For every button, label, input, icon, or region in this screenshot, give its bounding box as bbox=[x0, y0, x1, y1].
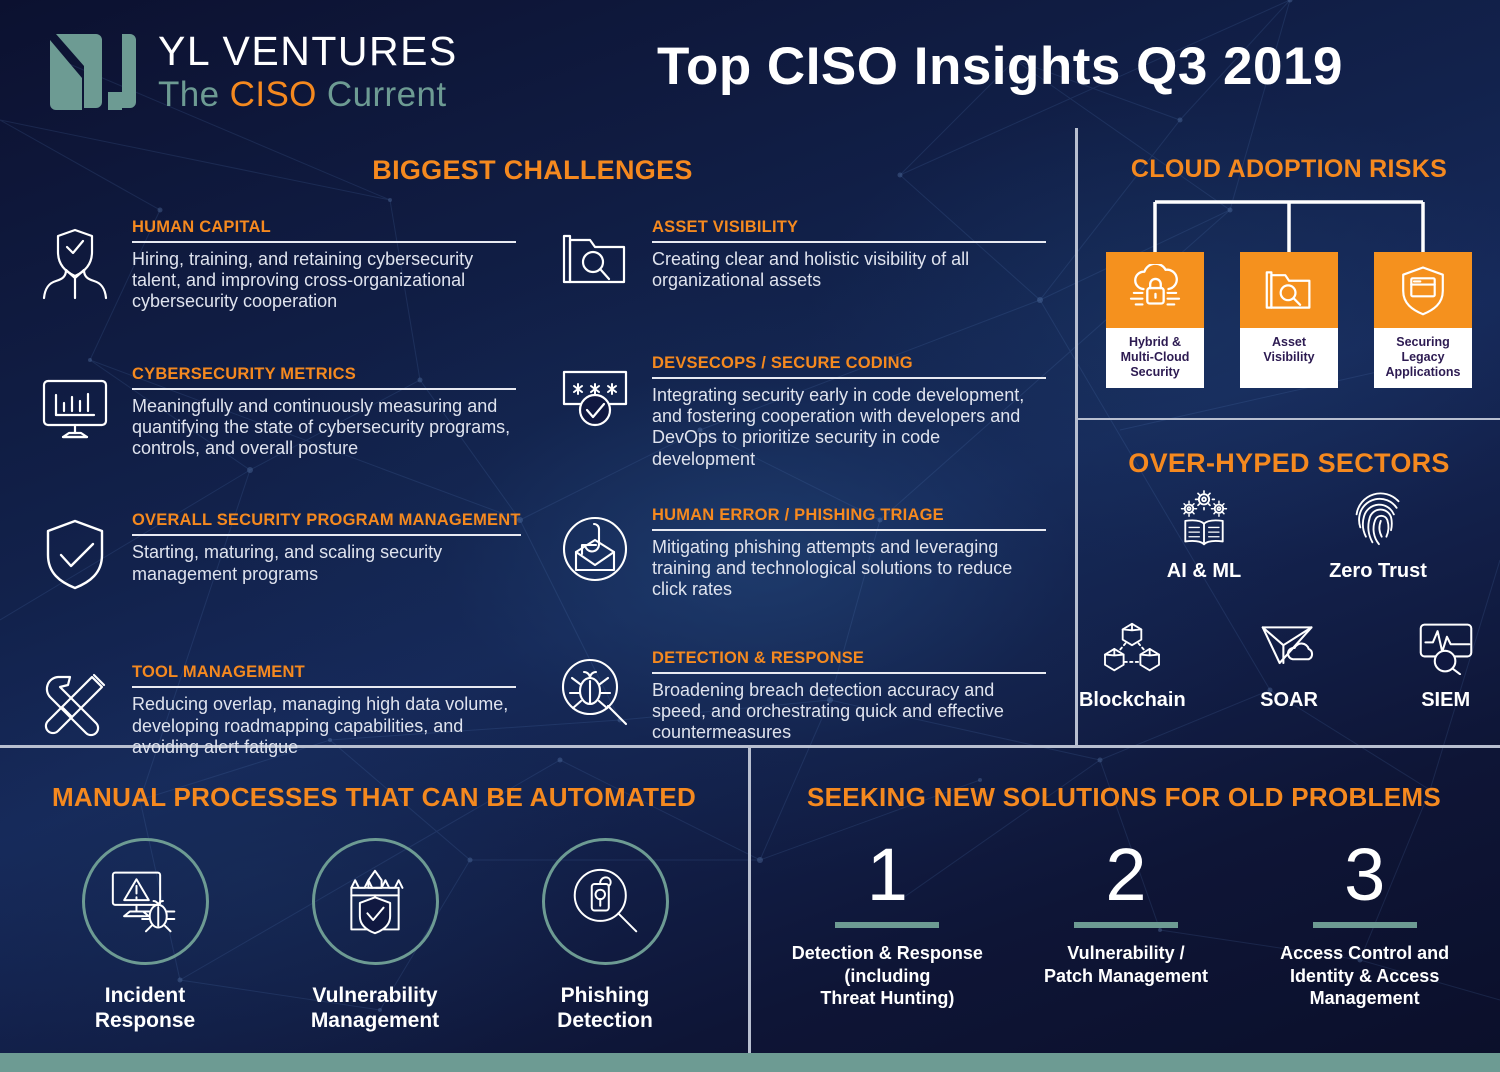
challenge-heading: TOOL MANAGEMENT bbox=[132, 663, 516, 682]
vertical-divider-bottom bbox=[748, 748, 751, 1053]
challenge-description: Reducing overlap, managing high data vol… bbox=[132, 694, 516, 758]
challenge-heading: ASSET VISIBILITY bbox=[652, 218, 1046, 237]
logo-tagline-suffix: Current bbox=[317, 75, 447, 114]
hyped-row-1: AI & ML Zero Trust bbox=[1078, 488, 1500, 583]
challenge-description: Starting, maturing, and scaling security… bbox=[132, 542, 521, 584]
challenge-body: CYBERSECURITY METRICS Meaningfully and c… bbox=[132, 365, 516, 460]
folder-search-icon bbox=[556, 218, 634, 296]
yl-ventures-logo-mark bbox=[46, 26, 142, 116]
section-title-manual-processes: MANUAL PROCESSES THAT CAN BE AUTOMATED bbox=[12, 782, 736, 813]
cloud-risk-cards: Hybrid &Multi-CloudSecurity AssetVisibil… bbox=[1078, 252, 1500, 388]
seeking-solutions-group: 1 Detection & Response(includingThreat H… bbox=[768, 840, 1484, 1010]
challenges-column-left: HUMAN CAPITAL Hiring, training, and reta… bbox=[36, 218, 516, 758]
challenge-rule bbox=[652, 377, 1046, 379]
challenge-body: HUMAN CAPITAL Hiring, training, and reta… bbox=[132, 218, 516, 313]
logo-company-name: YL VENTURES bbox=[158, 31, 458, 72]
cloud-adoption-risks-group: Hybrid &Multi-CloudSecurity AssetVisibil… bbox=[1078, 190, 1500, 400]
manual-process-label: PhishingDetection bbox=[557, 983, 653, 1033]
seeking-solution-item[interactable]: 1 Detection & Response(includingThreat H… bbox=[780, 840, 995, 1010]
challenge-description: Mitigating phishing attempts and leverag… bbox=[652, 537, 1046, 601]
manual-process-circle bbox=[82, 838, 209, 965]
footer-accent-bar bbox=[0, 1053, 1500, 1072]
fingerprint-icon bbox=[1351, 488, 1405, 550]
section-title-cloud-adoption-risks: CLOUD ADOPTION RISKS bbox=[1078, 155, 1500, 184]
seeking-solution-rule bbox=[1313, 922, 1417, 928]
cloud-risk-card[interactable]: Hybrid &Multi-CloudSecurity bbox=[1106, 252, 1204, 388]
cloud-risk-card[interactable]: AssetVisibility bbox=[1240, 252, 1338, 388]
section-title-over-hyped-sectors: OVER-HYPED SECTORS bbox=[1078, 448, 1500, 479]
hyped-sector-item[interactable]: Zero Trust bbox=[1319, 488, 1437, 583]
hyped-sector-label: Blockchain bbox=[1079, 689, 1186, 712]
cloud-risk-card[interactable]: SecuringLegacyApplications bbox=[1374, 252, 1472, 388]
cloud-risk-label: AssetVisibility bbox=[1240, 328, 1338, 374]
challenge-item: CYBERSECURITY METRICS Meaningfully and c… bbox=[36, 365, 516, 460]
challenge-body: DETECTION & RESPONSE Broadening breach d… bbox=[652, 649, 1046, 744]
challenge-heading: OVERALL SECURITY PROGRAM MANAGEMENT bbox=[132, 511, 521, 530]
hyped-sector-label: Zero Trust bbox=[1329, 560, 1427, 583]
challenge-body: HUMAN ERROR / PHISHING TRIAGE Mitigating… bbox=[652, 506, 1046, 601]
challenge-heading: HUMAN ERROR / PHISHING TRIAGE bbox=[652, 506, 1046, 525]
manual-process-circle bbox=[312, 838, 439, 965]
challenge-heading: DETECTION & RESPONSE bbox=[652, 649, 1046, 668]
hyped-sector-item[interactable]: SIEM bbox=[1391, 617, 1500, 712]
folder-search-icon bbox=[1240, 252, 1338, 328]
challenge-item: DEVSECOPS / SECURE CODING Integrating se… bbox=[556, 354, 1046, 470]
logo-tagline-prefix: The bbox=[158, 75, 230, 114]
challenge-rule bbox=[652, 672, 1046, 674]
challenge-description: Meaningfully and continuously measuring … bbox=[132, 396, 516, 460]
monitor-pulse-search-icon bbox=[1417, 617, 1475, 679]
seeking-solution-rule bbox=[1074, 922, 1178, 928]
hyped-sector-label: SIEM bbox=[1421, 689, 1470, 712]
challenge-rule bbox=[132, 534, 521, 536]
challenge-heading: CYBERSECURITY METRICS bbox=[132, 365, 516, 384]
seeking-solution-rule bbox=[835, 922, 939, 928]
challenge-rule bbox=[132, 686, 516, 688]
challenge-description: Creating clear and holistic visibility o… bbox=[652, 249, 1046, 291]
challenge-item: HUMAN CAPITAL Hiring, training, and reta… bbox=[36, 218, 516, 313]
logo-tagline-ciso: CISO bbox=[230, 75, 317, 114]
hyped-sector-label: SOAR bbox=[1260, 689, 1318, 712]
right-column-divider bbox=[1078, 418, 1500, 420]
challenge-item: ASSET VISIBILITY Creating clear and holi… bbox=[556, 218, 1046, 296]
challenge-description: Broadening breach detection accuracy and… bbox=[652, 680, 1046, 744]
challenge-body: ASSET VISIBILITY Creating clear and holi… bbox=[652, 218, 1046, 296]
blockchain-nodes-icon bbox=[1102, 617, 1162, 679]
section-title-biggest-challenges: BIGGEST CHALLENGES bbox=[110, 155, 955, 186]
challenge-rule bbox=[652, 241, 1046, 243]
shield-window-icon bbox=[1374, 252, 1472, 328]
challenge-rule bbox=[652, 529, 1046, 531]
hyped-sector-item[interactable]: Blockchain bbox=[1078, 617, 1187, 712]
challenge-body: TOOL MANAGEMENT Reducing overlap, managi… bbox=[132, 663, 516, 758]
seeking-solution-label: Vulnerability /Patch Management bbox=[1044, 942, 1208, 987]
infographic-page: YL VENTURES The CISO Current Top CISO In… bbox=[0, 0, 1500, 1072]
over-hyped-sectors-group: AI & ML Zero Trust bbox=[1078, 488, 1500, 712]
phishing-hook-envelope-icon bbox=[556, 506, 634, 584]
challenge-item: OVERALL SECURITY PROGRAM MANAGEMENT Star… bbox=[36, 511, 516, 589]
cloud-risk-label: SecuringLegacyApplications bbox=[1374, 328, 1472, 388]
hyped-row-2: Blockchain SOAR bbox=[1078, 617, 1500, 712]
bug-magnifier-icon bbox=[556, 649, 634, 727]
challenge-heading: HUMAN CAPITAL bbox=[132, 218, 516, 237]
challenge-heading: DEVSECOPS / SECURE CODING bbox=[652, 354, 1046, 373]
seeking-solution-rank: 2 bbox=[1105, 840, 1146, 910]
manual-process-label: IncidentResponse bbox=[95, 983, 195, 1033]
manual-process-circle bbox=[542, 838, 669, 965]
hyped-sector-item[interactable]: AI & ML bbox=[1145, 488, 1263, 583]
person-shield-icon bbox=[36, 218, 114, 296]
seeking-solution-label: Access Control andIdentity & AccessManag… bbox=[1280, 942, 1449, 1010]
seeking-solution-item[interactable]: 3 Access Control andIdentity & AccessMan… bbox=[1257, 840, 1472, 1010]
logo-tagline: The CISO Current bbox=[158, 77, 458, 112]
manual-process-item[interactable]: PhishingDetection bbox=[510, 838, 700, 1033]
challenges-column-right: ASSET VISIBILITY Creating clear and holi… bbox=[556, 218, 1046, 743]
manual-processes-group: IncidentResponse VulnerabilityManagement bbox=[30, 838, 720, 1033]
challenge-body: OVERALL SECURITY PROGRAM MANAGEMENT Star… bbox=[132, 511, 521, 589]
challenge-description: Integrating security early in code devel… bbox=[652, 385, 1046, 470]
brand-logo[interactable]: YL VENTURES The CISO Current bbox=[46, 26, 458, 116]
seeking-solution-label: Detection & Response(includingThreat Hun… bbox=[792, 942, 983, 1010]
gears-book-icon bbox=[1173, 488, 1235, 550]
challenge-rule bbox=[132, 241, 516, 243]
manual-process-item[interactable]: IncidentResponse bbox=[50, 838, 240, 1033]
hyped-sector-item[interactable]: SOAR bbox=[1235, 617, 1344, 712]
challenge-description: Hiring, training, and retaining cybersec… bbox=[132, 249, 516, 313]
manual-process-item[interactable]: VulnerabilityManagement bbox=[280, 838, 470, 1033]
cloud-risk-label: Hybrid &Multi-CloudSecurity bbox=[1106, 328, 1204, 388]
password-check-icon bbox=[556, 354, 634, 432]
page-title: Top CISO Insights Q3 2019 bbox=[620, 36, 1380, 97]
manual-process-label: VulnerabilityManagement bbox=[311, 983, 439, 1033]
hyped-sector-label: AI & ML bbox=[1167, 560, 1241, 583]
cloud-lock-icon bbox=[1106, 252, 1204, 328]
challenge-body: DEVSECOPS / SECURE CODING Integrating se… bbox=[652, 354, 1046, 470]
section-title-seeking-new-solutions: SEEKING NEW SOLUTIONS FOR OLD PROBLEMS bbox=[760, 782, 1488, 813]
paper-plane-cloud-icon bbox=[1259, 617, 1319, 679]
challenge-item: TOOL MANAGEMENT Reducing overlap, managi… bbox=[36, 663, 516, 758]
wrench-screwdriver-icon bbox=[36, 663, 114, 741]
seeking-solution-rank: 3 bbox=[1344, 840, 1385, 910]
challenge-item: DETECTION & RESPONSE Broadening breach d… bbox=[556, 649, 1046, 744]
shield-check-icon bbox=[36, 511, 114, 589]
seeking-solution-rank: 1 bbox=[867, 840, 908, 910]
monitor-chart-icon bbox=[36, 365, 114, 443]
seeking-solution-item[interactable]: 2 Vulnerability /Patch Management bbox=[1018, 840, 1233, 1010]
challenge-rule bbox=[132, 388, 516, 390]
challenge-item: HUMAN ERROR / PHISHING TRIAGE Mitigating… bbox=[556, 506, 1046, 601]
